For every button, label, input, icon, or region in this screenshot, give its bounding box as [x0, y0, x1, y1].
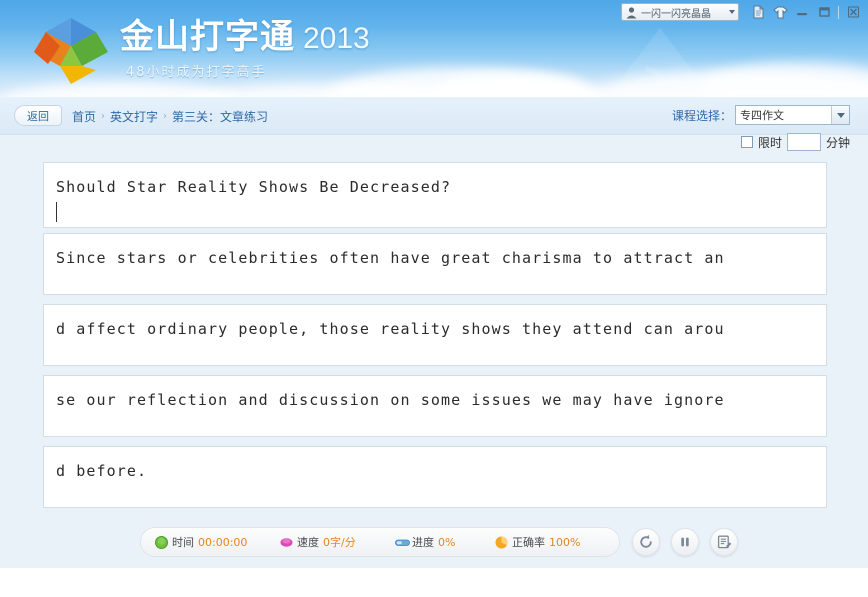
brand-block: 金山打字通2013 48小时成为打字高手 [120, 16, 480, 80]
speed-icon [280, 536, 293, 549]
time-limit-input[interactable] [787, 133, 821, 151]
close-icon[interactable] [842, 3, 864, 21]
app-tagline: 48小时成为打字高手 [126, 61, 480, 80]
report-button[interactable] [710, 528, 738, 556]
passage-line-5: d before. [56, 461, 816, 481]
accuracy-icon [495, 536, 508, 549]
control-buttons [632, 528, 738, 556]
user-icon [625, 6, 638, 19]
app-logo [30, 12, 112, 88]
time-limit-unit: 分钟 [826, 134, 850, 151]
course-selector: 课程选择： 专四作文 [672, 105, 850, 125]
breadcrumb-item-home[interactable]: 首页 [72, 108, 96, 125]
status-time-label: 时间 [172, 534, 194, 550]
status-bar: 时间 00:00:00 速度 0字/分 进度 0% [140, 527, 620, 557]
text-cursor [56, 202, 816, 224]
breadcrumb-separator: › [101, 111, 105, 122]
window-titlebar: 一闪一闪亮晶晶 [621, 2, 864, 22]
app-header: 金山打字通2013 48小时成为打字高手 一闪一闪亮晶晶 [0, 0, 868, 97]
status-time-value: 00:00:00 [198, 536, 247, 549]
typing-panel-1[interactable]: Should Star Reality Shows Be Decreased? [43, 162, 827, 228]
typing-panel-5[interactable]: d before. [43, 446, 827, 508]
typing-panel-3[interactable]: d affect ordinary people, those reality … [43, 304, 827, 366]
status-speed-value: 0字/分 [323, 534, 356, 550]
report-icon [716, 534, 732, 550]
skin-icon[interactable] [769, 3, 791, 21]
breadcrumb: 首页 › 英文打字 › 第三关：文章练习 [72, 108, 268, 125]
status-progress: 进度 0% [395, 534, 495, 550]
window-bottom-edge [0, 568, 868, 597]
clock-icon [155, 536, 168, 549]
passage-line-3: d affect ordinary people, those reality … [56, 319, 816, 339]
titlebar-divider [838, 6, 839, 19]
restart-button[interactable] [632, 528, 660, 556]
chevron-down-icon[interactable] [831, 106, 849, 124]
status-speed-label: 速度 [297, 534, 319, 550]
pause-button[interactable] [671, 528, 699, 556]
passage-line-4: se our reflection and discussion on some… [56, 390, 816, 410]
document-icon[interactable] [747, 3, 769, 21]
status-accuracy-label: 正确率 [512, 534, 545, 550]
status-progress-value: 0% [438, 536, 455, 549]
status-speed: 速度 0字/分 [280, 534, 395, 550]
status-time: 时间 00:00:00 [155, 534, 280, 550]
passage-line-1: Should Star Reality Shows Be Decreased? [56, 177, 816, 197]
typing-panel-2[interactable]: Since stars or celebrities often have gr… [43, 233, 827, 295]
chevron-down-icon [729, 10, 735, 14]
breadcrumb-item-english-typing[interactable]: 英文打字 [110, 108, 158, 125]
typing-panel-4[interactable]: se our reflection and discussion on some… [43, 375, 827, 437]
time-limit-checkbox[interactable] [741, 136, 753, 148]
back-button[interactable]: 返回 [14, 105, 62, 126]
user-name-label: 一闪一闪亮晶晶 [641, 5, 725, 20]
typing-app-window: 金山打字通2013 48小时成为打字高手 一闪一闪亮晶晶 [0, 0, 868, 597]
breadcrumb-separator: › [163, 111, 167, 122]
maximize-icon[interactable] [813, 3, 835, 21]
restart-icon [638, 534, 654, 550]
navigation-bar: 返回 首页 › 英文打字 › 第三关：文章练习 课程选择： 专四作文 限时 分钟 [0, 97, 868, 135]
app-title-year: 2013 [303, 22, 370, 55]
time-limit-row: 限时 分钟 [741, 133, 850, 151]
course-dropdown[interactable]: 专四作文 [735, 105, 850, 125]
status-progress-label: 进度 [412, 534, 434, 550]
progress-icon [395, 536, 408, 549]
course-dropdown-value: 专四作文 [736, 107, 831, 123]
status-accuracy: 正确率 100% [495, 534, 613, 550]
passage-line-2: Since stars or celebrities often have gr… [56, 248, 816, 268]
watermark-graphic [600, 18, 720, 97]
course-selector-label: 课程选择： [672, 107, 732, 124]
status-accuracy-value: 100% [549, 536, 580, 549]
app-title-text: 金山打字通 [120, 17, 295, 57]
time-limit-label: 限时 [758, 134, 782, 151]
minimize-icon[interactable] [791, 3, 813, 21]
user-account-dropdown[interactable]: 一闪一闪亮晶晶 [621, 3, 739, 21]
app-title: 金山打字通2013 [120, 16, 480, 60]
pause-icon [677, 534, 693, 550]
breadcrumb-item-current: 第三关：文章练习 [172, 108, 268, 125]
